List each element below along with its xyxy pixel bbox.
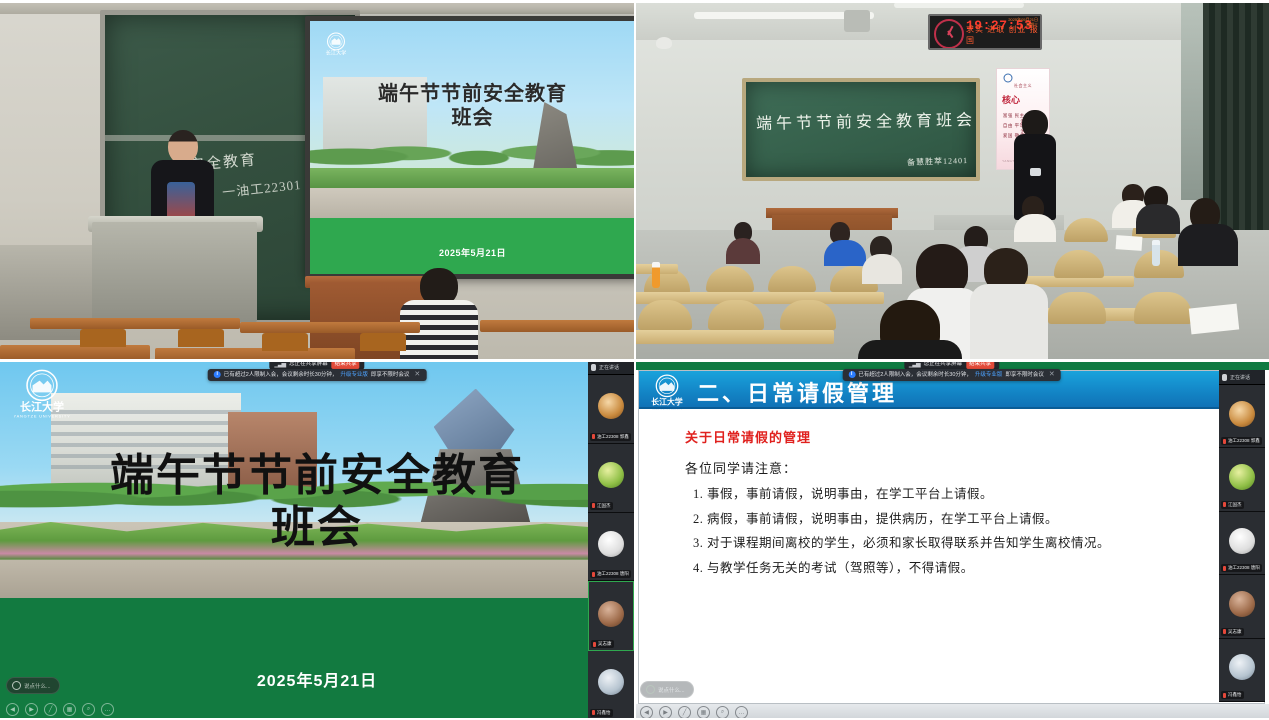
roster-header: 正在讲话	[588, 360, 634, 375]
slide-title: 端午节节前安全教育 班会	[0, 450, 634, 554]
classroom-desk	[634, 330, 834, 344]
next-slide-icon[interactable]: ▶	[25, 703, 38, 716]
comment-icon	[646, 685, 655, 694]
participant-tile[interactable]: 油工22308 郭鑫	[588, 375, 634, 444]
header-underline	[639, 407, 1264, 409]
list-item: 事假，事前请假，说明事由，在学工平台上请假。	[707, 487, 1204, 503]
avatar	[598, 531, 624, 557]
student-body	[1178, 224, 1238, 266]
mic-icon	[1222, 374, 1227, 381]
participant-roster[interactable]: 正在讲话 油工22308 郭鑫 江国杰	[588, 360, 634, 720]
slide-date: 2025年5月21日	[0, 667, 634, 691]
roster-header-label: 正在讲话	[1230, 374, 1250, 381]
panel-classroom-speaker: 节安全教育 一油工22301 长江大学 端午节节前安全教育 班会	[0, 0, 634, 360]
participant-name: 油工22308 郭鑫	[1221, 437, 1262, 445]
share-status-label: 您正在共享屏幕	[289, 362, 328, 368]
leave-rules-list: 事假，事前请假，说明事由，在学工平台上请假。 病假，事前请假，说明事由，提供病历…	[685, 487, 1204, 577]
participant-tile[interactable]: 冯鑫怡	[1219, 639, 1265, 702]
svg-text:长江大学: 长江大学	[651, 396, 683, 406]
prev-slide-icon[interactable]: ◀	[6, 703, 19, 716]
poster-headline: 核心	[1002, 93, 1020, 106]
classroom-chair	[262, 333, 308, 351]
comment-icon	[12, 681, 21, 690]
slide-green-band	[0, 598, 634, 720]
phone-in-hand	[1030, 168, 1041, 176]
seated-student	[400, 268, 478, 360]
student-body	[858, 340, 962, 360]
participant-name: 吴志康	[1221, 628, 1244, 636]
muted-mic-icon	[1223, 693, 1226, 698]
slide-plaza	[310, 188, 634, 218]
notice-text-after: 即享不限时会议	[371, 372, 410, 378]
collage-horizontal-gutter	[0, 359, 1269, 362]
participant-tile-speaking[interactable]: 吴志康	[588, 581, 634, 651]
avatar	[598, 669, 624, 695]
muted-mic-icon	[1223, 502, 1226, 507]
muted-mic-icon	[592, 710, 595, 715]
student-body	[970, 284, 1048, 360]
window	[1181, 0, 1203, 200]
projected-slide-title: 端午节节前安全教育 班会	[310, 82, 634, 131]
paper-sheet	[1116, 235, 1143, 251]
sculpture-spire	[434, 389, 515, 455]
muted-mic-icon	[592, 503, 595, 508]
upgrade-link[interactable]: 升级专业版	[340, 372, 368, 378]
led-clock-motto: 求实 进取 创业 报国	[966, 24, 1040, 46]
classroom-desk	[480, 320, 634, 332]
chat-placeholder: 说点什么...	[658, 686, 685, 694]
muted-mic-icon	[592, 572, 595, 577]
poster-crest-icon	[1001, 73, 1015, 83]
participant-tile[interactable]: 油工22308 唐阳	[1219, 512, 1265, 575]
participant-name: 吴志康	[591, 640, 614, 648]
classroom-desk	[30, 318, 240, 329]
avatar	[1229, 528, 1255, 554]
roster-header-label: 正在讲话	[599, 364, 619, 371]
classroom-seat	[1048, 292, 1106, 324]
muted-mic-icon	[1223, 629, 1226, 634]
participant-tile[interactable]: 江国杰	[588, 444, 634, 513]
chat-input[interactable]: 说点什么...	[6, 677, 60, 694]
panel-slide-leave-management: 长江大学 YANGTZE UNIVERSITY 二、日常请假管理 关于日常请假的…	[634, 360, 1269, 720]
participant-tile[interactable]: 油工22308 郭鑫	[1219, 385, 1265, 448]
blackboard-title: 端午节节前安全教育班会	[756, 106, 976, 134]
presentation-toolbar[interactable]: ◀ ▶ ╱ ▦ ⌕ …	[6, 703, 114, 716]
classroom-chair	[80, 329, 126, 347]
student-body	[1136, 204, 1180, 234]
water-bottle	[1152, 240, 1160, 266]
avatar	[598, 393, 624, 419]
upgrade-link[interactable]: 升级专业版	[975, 372, 1003, 378]
muted-mic-icon	[592, 434, 595, 439]
projection-screen: 长江大学 端午节节前安全教育 班会 2025年5月21日	[305, 16, 634, 279]
notice-text-before: 已有超过2人限制入会，会议剩余时长30分钟，	[224, 372, 338, 378]
roster-header: 正在讲话	[1219, 370, 1265, 385]
participant-name: 冯鑫怡	[590, 709, 613, 717]
notice-text-before: 已有超过2人限制入会，会议剩余时长30分钟，	[858, 372, 972, 378]
participant-name: 油工22308 郭鑫	[590, 433, 631, 441]
classroom-desk	[240, 322, 420, 333]
projected-slide-date: 2025年5月21日	[310, 246, 634, 259]
avatar	[1229, 464, 1255, 490]
speaker-head	[168, 130, 198, 164]
close-icon[interactable]: ✕	[414, 371, 420, 379]
list-item: 对于课程期间离校的学生，必须和家长取得联系并告知学生离校情况。	[707, 536, 1204, 552]
svg-text:YANGTZE UNIVERSITY: YANGTZE UNIVERSITY	[14, 414, 70, 419]
participant-tile[interactable]: 油工22308 唐阳	[588, 513, 634, 582]
avatar	[598, 462, 624, 488]
svg-text:长江大学: 长江大学	[20, 400, 64, 414]
participant-name: 油工22308 唐阳	[1221, 564, 1262, 572]
muted-mic-icon	[1223, 566, 1226, 571]
zoom-icon[interactable]: ⌕	[82, 703, 95, 716]
stop-share-button[interactable]: 结束共享	[332, 361, 360, 369]
slide-header-title: 二、日常请假管理	[697, 376, 897, 408]
projector-mount	[844, 10, 870, 32]
drink-bottle	[652, 262, 660, 288]
list-item: 病假，事前请假，说明事由，提供病历，在学工平台上请假。	[707, 512, 1204, 528]
signal-icon: ▁▃▅	[909, 362, 920, 368]
pen-icon[interactable]: ╱	[44, 703, 57, 716]
signal-icon: ▁▃▅	[274, 362, 285, 368]
participant-name: 江国杰	[590, 502, 613, 510]
student-body	[1014, 214, 1056, 242]
notice-text-after: 即享不限时会议	[1005, 372, 1044, 378]
participant-tile[interactable]: 冯鑫怡	[588, 651, 634, 720]
participant-tile[interactable]: 江国杰	[1219, 448, 1265, 511]
participant-tile[interactable]: 吴志康	[1219, 575, 1265, 638]
close-icon[interactable]: ✕	[1049, 371, 1055, 379]
classroom-chair	[360, 333, 406, 351]
blackboard: 端午节节前安全教育班会 备慧胜萃12401	[742, 78, 980, 181]
avatar	[1229, 591, 1255, 617]
meeting-duration-notice[interactable]: i 已有超过2人限制入会，会议剩余时长30分钟， 升级专业版 即享不限时会议 ✕	[842, 369, 1061, 381]
chat-placeholder: 说点什么...	[24, 682, 51, 690]
analog-clock-icon	[934, 19, 964, 49]
photo-collage: 节安全教育 一油工22301 长江大学 端午节节前安全教育 班会	[0, 0, 1269, 720]
participant-name: 冯鑫怡	[1221, 691, 1244, 699]
slide-title-line-2: 班会	[0, 502, 634, 554]
led-clock-display: 19:27:53 2025年05月21日 星期三 求实 进取 创业 报国	[928, 14, 1042, 50]
participant-roster[interactable]: 正在讲话 油工22308 郭鑫 江国杰	[1219, 370, 1265, 702]
info-icon: i	[848, 371, 855, 378]
slide-body: 关于日常请假的管理 各位同学请注意： 事假，事前请假，说明事由，在学工平台上请假…	[685, 427, 1204, 586]
paper-sheet	[1189, 304, 1239, 335]
panel-classroom-audience: 19:27:53 2025年05月21日 星期三 求实 进取 创业 报国 端午节…	[634, 0, 1269, 360]
participant-name: 江国杰	[1221, 501, 1244, 509]
chat-input[interactable]: 说点什么...	[640, 681, 694, 698]
student-body	[824, 240, 866, 266]
panel-slide-title: 长江大学 YANGTZE UNIVERSITY 端午节节前安全教育 班会 202…	[0, 360, 634, 720]
classroom-seat	[1134, 292, 1192, 324]
security-camera-icon	[656, 37, 672, 49]
muted-mic-icon	[1223, 439, 1226, 444]
slide-heading: 关于日常请假的管理	[685, 427, 1204, 446]
share-status-label: 您正在共享屏幕	[924, 362, 963, 368]
classroom-chair	[178, 329, 224, 347]
avatar	[1229, 401, 1255, 427]
university-crest-icon: 长江大学 YANGTZE UNIVERSITY	[14, 368, 70, 420]
avatar	[1229, 654, 1255, 680]
stop-share-button[interactable]: 结束共享	[966, 361, 994, 369]
muted-mic-icon	[593, 642, 596, 647]
student-body	[726, 238, 760, 264]
poster-subhead: 社会主义	[1001, 83, 1045, 89]
participant-name: 油工22308 唐阳	[590, 570, 631, 578]
meeting-duration-notice[interactable]: i 已有超过2人限制入会，会议剩余时长30分钟， 升级专业版 即享不限时会议 ✕	[208, 369, 427, 381]
info-icon: i	[214, 371, 221, 378]
mic-icon	[591, 364, 596, 371]
slide-frame: 长江大学 YANGTZE UNIVERSITY 二、日常请假管理 关于日常请假的…	[638, 370, 1265, 704]
slide-title-line-1: 端午节节前安全教育	[0, 450, 634, 502]
student-body	[862, 254, 902, 284]
list-item: 与教学任务无关的考试（驾照等），不得请假。	[707, 561, 1204, 577]
slide-grid-icon[interactable]: ▦	[63, 703, 76, 716]
avatar	[598, 601, 624, 627]
more-options-icon[interactable]: …	[101, 703, 114, 716]
university-crest-icon: 长江大学	[323, 31, 349, 61]
podium	[92, 222, 257, 322]
blackboard-signature: 备慧胜萃12401	[907, 155, 968, 168]
slide-lead-text: 各位同学请注意：	[685, 458, 1204, 477]
classroom-desk	[0, 345, 150, 360]
